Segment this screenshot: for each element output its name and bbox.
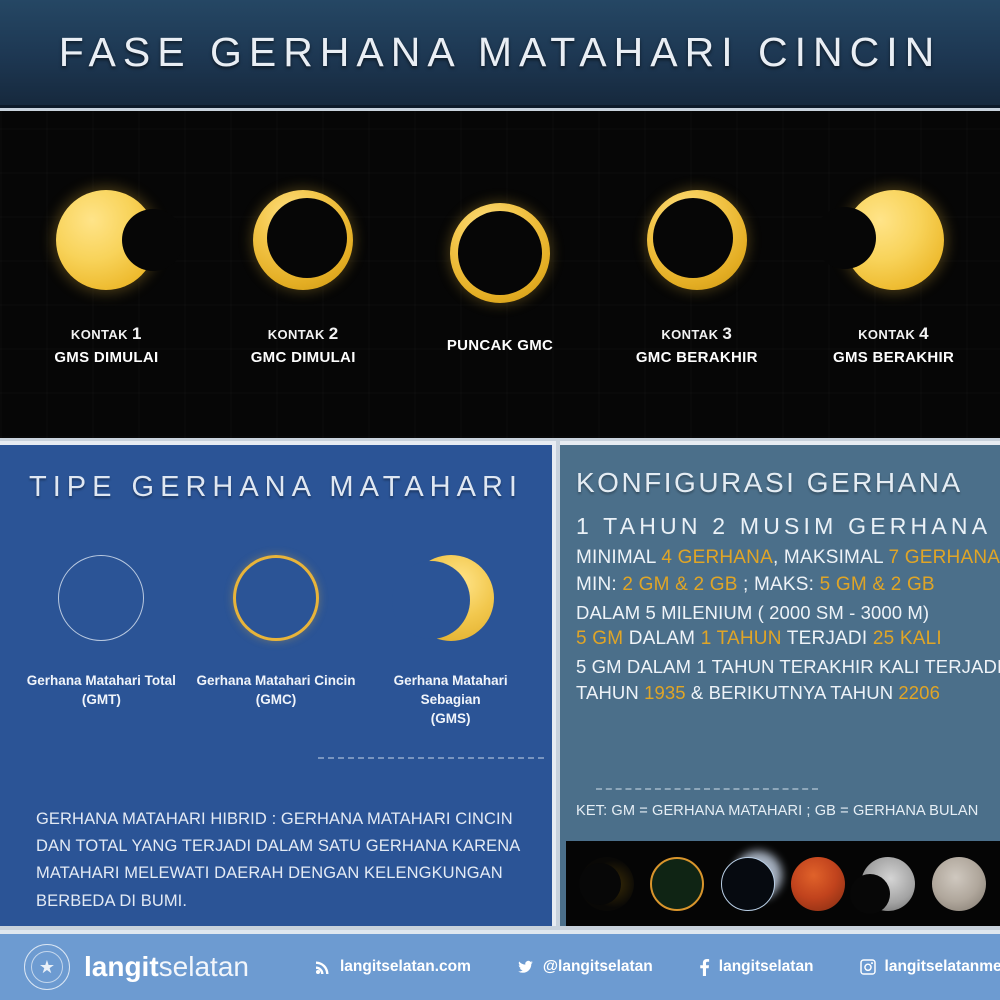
phase-line1-label: KONTAK xyxy=(268,327,325,342)
config-lines: 1 TAHUN 2 MUSIM GERHANA MINIMAL 4 GERHAN… xyxy=(576,513,1000,704)
config-line-milenium: DALAM 5 MILENIUM ( 2000 SM - 3000 M) xyxy=(576,602,1000,624)
config-line-terakhir-2: TAHUN 1935 & BERIKUTNYA TAHUN 2206 xyxy=(576,682,1000,704)
phase-line2: PUNCAK GMC xyxy=(447,335,553,357)
phase-line1-num: 4 xyxy=(919,324,929,343)
phase-line2: GMC DIMULAI xyxy=(251,347,356,369)
social-website-label: langitselatan.com xyxy=(340,958,471,976)
phase-line2: GMC BERAKHIR xyxy=(636,347,758,369)
social-instagram-label: langitselatanmedia xyxy=(885,958,1000,976)
minmax-p2: , MAKSIMAL xyxy=(773,547,889,568)
social-facebook-label: langitselatan xyxy=(719,958,814,976)
type-art-gold-crescent xyxy=(408,550,494,646)
minmaks-g1: 2 GM & 2 GB xyxy=(622,574,737,595)
type-caption: Gerhana Matahari Sebagian (GMS) xyxy=(371,672,531,729)
type-art-gold-ring xyxy=(233,550,319,646)
minmaks-p1: MIN: xyxy=(576,574,622,595)
eclipse-phases-section: KONTAK 1 GMS DIMULAI KONTAK 2 GMC DIMULA… xyxy=(0,111,1000,438)
config-line-minmaks: MIN: 2 GM & 2 GB ; MAKS: 5 GM & 2 GB xyxy=(576,574,1000,596)
phase-art-sun-bitten-left xyxy=(844,180,944,300)
phase-line2: GMS DIMULAI xyxy=(54,347,158,369)
minmaks-p2: ; MAKS: xyxy=(738,574,820,595)
type-caption: Gerhana Matahari Total (GMT) xyxy=(27,672,176,710)
phase-art-annular-ring-thick-left xyxy=(253,180,353,300)
minmaks-g2: 5 GM & 2 GB xyxy=(820,574,935,595)
social-website[interactable]: langitselatan.com xyxy=(315,958,471,976)
social-instagram[interactable]: langitselatanmedia xyxy=(860,958,1000,976)
phase-item-kontak-3: KONTAK 3 GMC BERAKHIR xyxy=(602,180,792,368)
infographic-page: FASE GERHANA MATAHARI CINCIN KONTAK 1 GM… xyxy=(0,0,1000,1000)
facebook-icon xyxy=(699,959,710,976)
config-legend-note: KET: GM = GERHANA MATAHARI ; GB = GERHAN… xyxy=(576,803,978,819)
types-row: Gerhana Matahari Total (GMT) Gerhana Mat… xyxy=(0,550,552,729)
l5gm-p2: TERJADI xyxy=(782,628,873,649)
right-panel-divider xyxy=(596,788,818,790)
config-line-season: 1 TAHUN 2 MUSIM GERHANA xyxy=(576,513,1000,540)
rss-icon xyxy=(315,959,331,975)
phase-caption: KONTAK 3 GMC BERAKHIR xyxy=(636,322,758,368)
l5gm-g2: 1 TAHUN xyxy=(701,628,782,649)
phase-item-kontak-1: KONTAK 1 GMS DIMULAI xyxy=(11,180,201,368)
phase-line2: GMS BERAKHIR xyxy=(833,347,954,369)
phase-line1-label: KONTAK xyxy=(858,327,915,342)
instagram-icon xyxy=(860,959,876,975)
social-twitter-label: @langitselatan xyxy=(543,958,653,976)
eclipse-photo-strip xyxy=(566,841,1000,926)
phase-art-annular-ring-even xyxy=(450,193,550,313)
brand-wordmark: langitselatan xyxy=(84,953,249,981)
phase-item-kontak-2: KONTAK 2 GMC DIMULAI xyxy=(208,180,398,368)
social-links: langitselatan.com @langitselatan langits… xyxy=(315,958,1000,976)
type-line1: Gerhana Matahari Cincin xyxy=(196,672,355,691)
type-line1: Gerhana Matahari Sebagian xyxy=(371,672,531,710)
type-line2: (GMS) xyxy=(371,710,531,729)
terakhir-p1: TAHUN xyxy=(576,682,644,703)
phase-line1-num: 1 xyxy=(132,324,142,343)
terakhir-g1: 1935 xyxy=(644,682,686,703)
phase-row: KONTAK 1 GMS DIMULAI KONTAK 2 GMC DIMULA… xyxy=(0,111,1000,438)
thumb-annular-eclipse xyxy=(647,854,707,914)
config-panel-title: KONFIGURASI GERHANA xyxy=(576,467,1000,499)
minmax-p1: MINIMAL xyxy=(576,547,661,568)
phase-line1-num: 3 xyxy=(722,324,732,343)
l5gm-p1: DALAM xyxy=(623,628,700,649)
terakhir-g2: 2206 xyxy=(898,682,940,703)
l5gm-g1: 5 GM xyxy=(576,628,623,649)
thumb-partial-lunar xyxy=(858,854,918,914)
minmax-g1: 4 GERHANA xyxy=(661,547,773,568)
logo-seal-icon: ★ xyxy=(24,944,70,990)
phase-line1-label: KONTAK xyxy=(661,327,718,342)
phase-caption: KONTAK 2 GMC DIMULAI xyxy=(251,322,356,368)
brand-bold: langit xyxy=(84,951,159,982)
type-caption: Gerhana Matahari Cincin (GMC) xyxy=(196,672,355,710)
twitter-icon xyxy=(517,959,534,975)
page-title: FASE GERHANA MATAHARI CINCIN xyxy=(59,29,941,76)
phase-caption: KONTAK 1 GMS DIMULAI xyxy=(54,322,158,368)
left-panel-divider xyxy=(318,757,544,759)
phase-item-kontak-4: KONTAK 4 GMS BERAKHIR xyxy=(799,180,989,368)
types-panel-title: TIPE GERHANA MATAHARI xyxy=(0,471,552,504)
minmax-g2: 7 GERHANA xyxy=(889,547,1000,568)
header-banner: FASE GERHANA MATAHARI CINCIN xyxy=(0,0,1000,108)
type-item-gmt: Gerhana Matahari Total (GMT) xyxy=(21,550,181,729)
social-facebook[interactable]: langitselatan xyxy=(699,958,814,976)
terakhir-p2: & BERIKUTNYA TAHUN xyxy=(686,682,899,703)
type-art-outline-circle xyxy=(58,550,144,646)
type-item-gmc: Gerhana Matahari Cincin (GMC) xyxy=(196,550,356,729)
phase-art-sun-bitten-right xyxy=(56,180,156,300)
phase-line1-num: 2 xyxy=(329,324,339,343)
config-line-minmax: MINIMAL 4 GERHANA, MAKSIMAL 7 GERHANA xyxy=(576,547,1000,569)
phase-caption: KONTAK 4 GMS BERAKHIR xyxy=(833,322,954,368)
phase-item-puncak-gmc: PUNCAK GMC xyxy=(405,193,595,357)
brand-light: selatan xyxy=(159,951,249,982)
thumb-blood-moon xyxy=(788,854,848,914)
type-line1: Gerhana Matahari Total xyxy=(27,672,176,691)
phase-line1-label: KONTAK xyxy=(71,327,128,342)
phase-art-annular-ring-thick-right xyxy=(647,180,747,300)
footer-bar: ★ langitselatan langitselatan.com @langi… xyxy=(0,930,1000,1000)
social-twitter[interactable]: @langitselatan xyxy=(517,958,653,976)
phase-caption: PUNCAK GMC xyxy=(447,335,553,357)
type-line2: (GMC) xyxy=(196,691,355,710)
config-line-5gm: 5 GM DALAM 1 TAHUN TERJADI 25 KALI xyxy=(576,628,1000,650)
type-line2: (GMT) xyxy=(27,691,176,710)
thumb-diamond-ring xyxy=(718,854,778,914)
brand-block[interactable]: ★ langitselatan xyxy=(24,944,249,990)
thumb-full-moon xyxy=(929,854,989,914)
hybrid-eclipse-description: GERHANA MATAHARI HIBRID : GERHANA MATAHA… xyxy=(36,806,524,915)
config-line-terakhir-1: 5 GM DALAM 1 TAHUN TERAKHIR KALI TERJADI xyxy=(576,656,1000,678)
type-item-gms: Gerhana Matahari Sebagian (GMS) xyxy=(371,550,531,729)
l5gm-g3: 25 KALI xyxy=(873,628,942,649)
thumb-crescent-sun xyxy=(577,854,637,914)
